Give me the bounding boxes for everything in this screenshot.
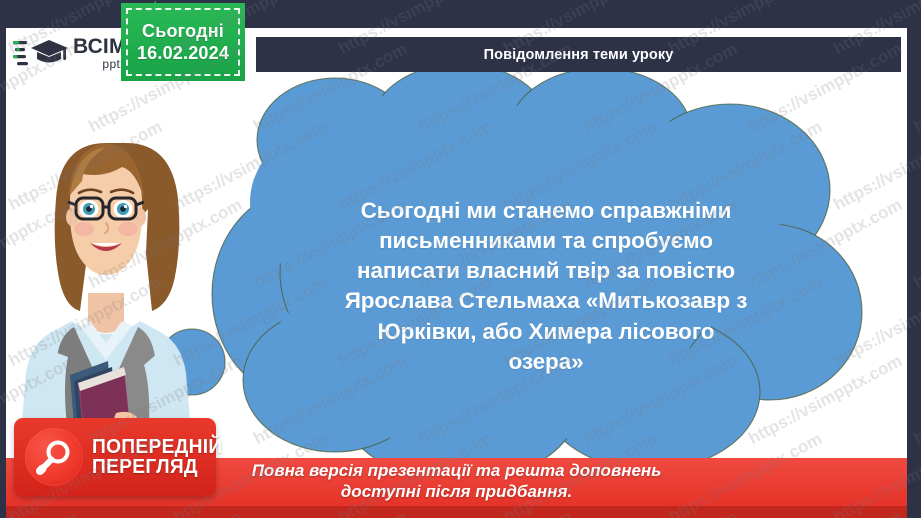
- watermark-text: https://vsimpptx.com: [0, 117, 1, 215]
- bubble-line: озера»: [296, 347, 796, 377]
- bottom-accent-strip: [6, 506, 907, 518]
- bubble-line: письменниками та спробуємо: [296, 226, 796, 256]
- bubble-line: Ярослава Стельмаха «Митькозавр з: [296, 286, 796, 316]
- watermark-text: https://vsimpptx.com: [910, 507, 921, 518]
- today-label: Сьогодні: [142, 20, 224, 43]
- bubble-line: написати власний твір за повістю: [296, 256, 796, 286]
- preview-label-line-2: ПЕРЕГЛЯД: [92, 457, 223, 477]
- slide-title-bar: Повідомлення теми уроку: [256, 37, 901, 72]
- watermark-text: https://vsimpptx.com: [0, 429, 1, 518]
- logo-text: ВСІМ pptx: [73, 36, 127, 70]
- today-date-badge: Сьогодні 16.02.2024: [121, 3, 245, 81]
- logo-brand: ВСІМ: [73, 36, 127, 57]
- brand-logo: ВСІМ pptx: [6, 28, 124, 78]
- bubble-message: Сьогодні ми станемо справжніми письменни…: [296, 196, 796, 377]
- today-date: 16.02.2024: [137, 42, 229, 65]
- magnifier-icon: [25, 428, 83, 486]
- preview-label-line-1: ПОПЕРЕДНІЙ: [92, 437, 223, 457]
- slide-root: Сьогодні ми станемо справжніми письменни…: [0, 0, 921, 518]
- bubble-line: Юрківки, або Химера лісового: [296, 317, 796, 347]
- watermark-text: https://vsimpptx.com: [910, 195, 921, 293]
- bubble-line: Сьогодні ми станемо справжніми: [296, 196, 796, 226]
- preview-badge: ПОПЕРЕДНІЙ ПЕРЕГЛЯД: [14, 418, 216, 496]
- preview-badge-text: ПОПЕРЕДНІЙ ПЕРЕГЛЯД: [92, 437, 228, 478]
- teacher-character-illustration: [16, 125, 196, 445]
- watermark-text: https://vsimpptx.com: [0, 273, 1, 371]
- purchase-notice-line-2: доступні після придбання.: [341, 482, 572, 503]
- watermark-text: https://vsimpptx.com: [0, 0, 1, 59]
- watermark-text: https://vsimpptx.com: [910, 351, 921, 449]
- watermark-text: https://vsimpptx.com: [910, 39, 921, 137]
- purchase-notice-line-1: Повна версія презентації та решта доповн…: [252, 461, 662, 482]
- graduation-cap-icon: [13, 36, 69, 70]
- slide-title-text: Повідомлення теми уроку: [484, 47, 674, 63]
